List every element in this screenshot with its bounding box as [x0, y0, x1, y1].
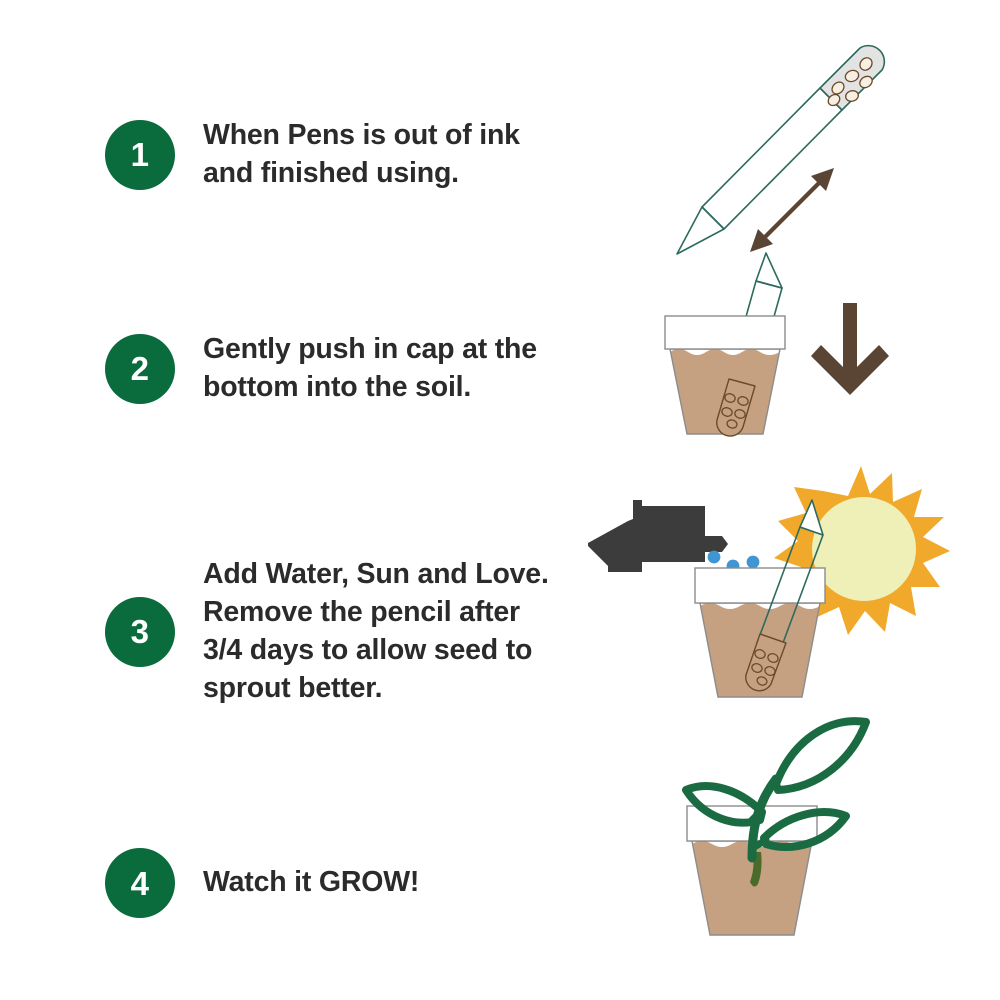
step-number-badge-2: 2: [105, 334, 175, 404]
step-text-3: Add Water, Sun and Love. Remove the penc…: [203, 556, 549, 708]
step-item-3: 3 Add Water, Sun and Love. Remove the pe…: [105, 556, 549, 708]
step-text-4: Watch it GROW!: [203, 864, 419, 902]
illustrations-column: [580, 0, 1000, 1000]
step-item-2: 2 Gently push in cap at the bottom into …: [105, 331, 537, 407]
pencil-icon: [677, 88, 842, 254]
illustration-step-4: [686, 721, 866, 935]
steps-column: 1 When Pens is out of ink and finished u…: [0, 0, 600, 1000]
step-number-badge-4: 4: [105, 848, 175, 918]
step-text-2: Gently push in cap at the bottom into th…: [203, 331, 537, 407]
step-number-badge-1: 1: [105, 120, 175, 190]
step-number-badge-3: 3: [105, 597, 175, 667]
step-item-4: 4 Watch it GROW!: [105, 848, 419, 918]
illustration-step-1: [677, 46, 884, 254]
watering-can-icon: [588, 500, 728, 572]
step-text-1: When Pens is out of ink and finished usi…: [203, 117, 520, 193]
seed-capsule-icon: [820, 46, 884, 110]
illustration-step-3: [588, 466, 950, 697]
illustration-step-2: [665, 253, 889, 436]
step-item-1: 1 When Pens is out of ink and finished u…: [105, 117, 520, 193]
down-arrow-icon: [811, 303, 889, 395]
instruction-sheet: 1 When Pens is out of ink and finished u…: [0, 0, 1000, 1000]
